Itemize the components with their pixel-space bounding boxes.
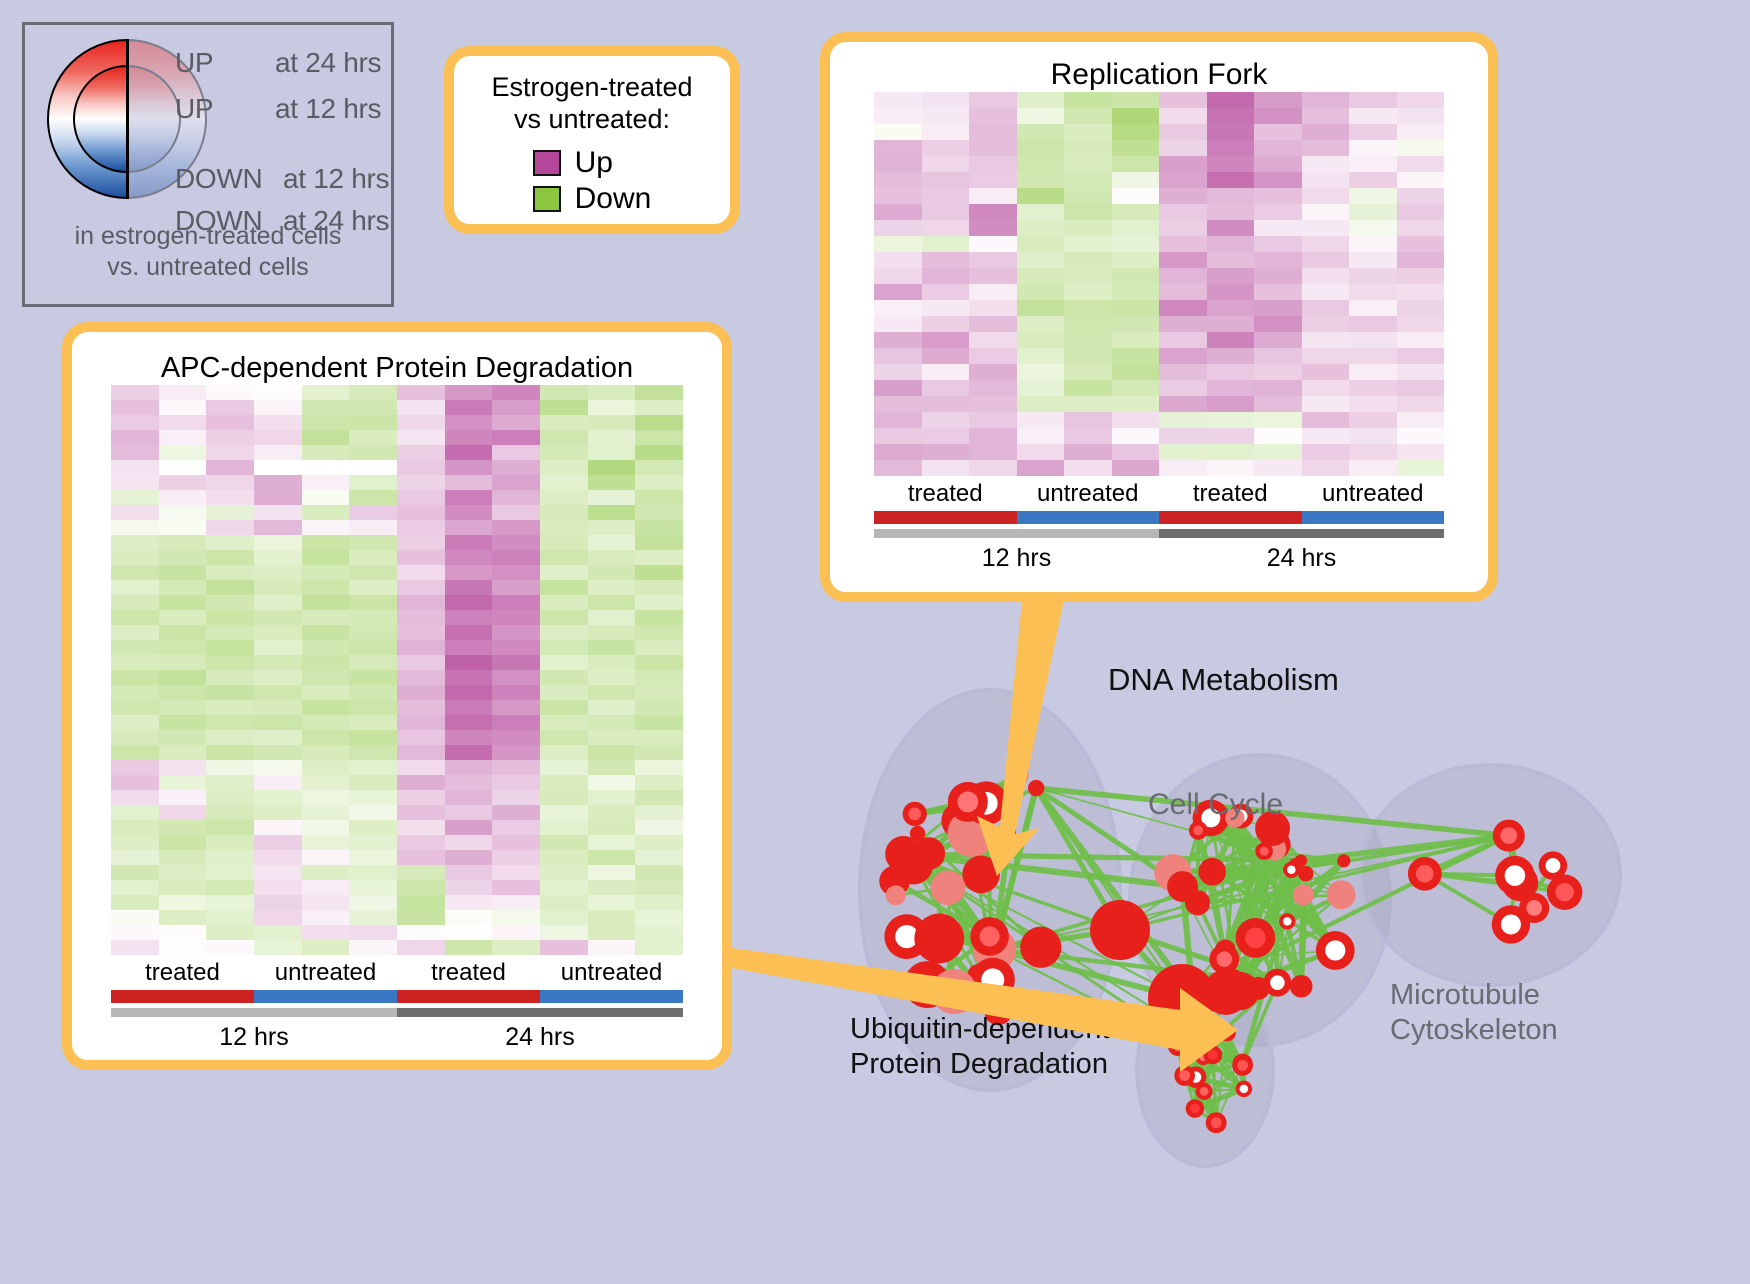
heatmap-cell [254,610,302,625]
heatmap-cell [445,910,493,925]
heatmap-cell [1349,380,1397,396]
heatmap-cell [1397,444,1445,460]
heatmap-cell [445,880,493,895]
heatmap-cell [635,445,683,460]
heatmap-cell [159,595,207,610]
heatmap-cell [969,412,1017,428]
heatmap-cell [1064,236,1112,252]
legend-title-line2: vs untreated: [454,104,730,136]
heatmap-cell [588,895,636,910]
heatmap-cell [254,730,302,745]
heatmap-cell [349,745,397,760]
heatmap-cell [492,595,540,610]
heatmap-cell [1207,92,1255,108]
heatmap-cell [492,385,540,400]
heatmap-cell [492,820,540,835]
heatmap-cell [1207,140,1255,156]
key-time-up-24: at 24 hrs [275,47,381,79]
heatmap-cell [540,895,588,910]
heatmap-cell [1302,444,1350,460]
heatmap-cell [1159,316,1207,332]
heatmap-cell [1017,172,1065,188]
heatmap-cell [445,760,493,775]
heatmap-group-color-bar [874,511,1017,524]
heatmap-cell [540,475,588,490]
heatmap-time-label: 12 hrs [111,1017,397,1052]
heatmap-cell [1207,332,1255,348]
heatmap-cell [159,805,207,820]
heatmap-cell [397,775,445,790]
heatmap-cell [492,925,540,940]
heatmap-cell [159,565,207,580]
heatmap-cell [349,400,397,415]
network-node-core [980,926,1000,946]
heatmap-cell [206,385,254,400]
heatmap-cell [922,444,970,460]
heatmap-cell [397,475,445,490]
heatmap-cell [635,910,683,925]
network-node [1020,927,1061,968]
heatmap-cell [1349,332,1397,348]
heatmap-cell [540,595,588,610]
heatmap-cell [588,640,636,655]
heatmap-cell [1207,268,1255,284]
heatmap-cell [874,284,922,300]
heatmap-cell [302,850,350,865]
heatmap-cell [1112,268,1160,284]
heatmap-cell [969,236,1017,252]
heatmap-cell [1112,188,1160,204]
heatmap-group-label: treated [397,955,540,987]
heatmap-cell [349,715,397,730]
heatmap-cell [1349,252,1397,268]
heatmap-cell [1397,220,1445,236]
heatmap-cell [635,520,683,535]
heatmap-cell [588,475,636,490]
heatmap-cell [922,92,970,108]
heatmap-cell [1064,268,1112,284]
apc-degradation-title: APC-dependent Protein Degradation [72,352,722,385]
heatmap-cell [254,400,302,415]
heatmap-cell [1064,172,1112,188]
heatmap-cell [922,204,970,220]
heatmap-cell [1349,236,1397,252]
heatmap-cell [397,550,445,565]
heatmap-cell [1207,316,1255,332]
heatmap-cell [349,700,397,715]
replication-fork-heatmap [874,92,1444,476]
legend-title-line1: Estrogen-treated [454,72,730,104]
heatmap-cell [540,460,588,475]
heatmap-cell [302,700,350,715]
heatmap-cell [397,715,445,730]
heatmap-cell [588,790,636,805]
heatmap-cell [302,880,350,895]
heatmap-cell [397,700,445,715]
heatmap-cell [397,880,445,895]
network-node-core [1208,1050,1218,1060]
heatmap-cell [540,640,588,655]
heatmap-cell [206,490,254,505]
heatmap-cell [254,805,302,820]
heatmap-cell [540,400,588,415]
heatmap-cell [111,535,159,550]
heatmap-cell [635,415,683,430]
heatmap-cell [492,445,540,460]
heatmap-cell [1397,268,1445,284]
heatmap-cell [1302,268,1350,284]
heatmap-cell [254,895,302,910]
heatmap-cell [111,550,159,565]
heatmap-cell [1349,124,1397,140]
heatmap-cell [635,865,683,880]
heatmap-cell [540,910,588,925]
heatmap-cell [1254,332,1302,348]
heatmap-cell [969,220,1017,236]
heatmap-cell [540,565,588,580]
heatmap-cell [492,700,540,715]
heatmap-cell [254,490,302,505]
network-node-core [1237,1060,1248,1071]
heatmap-cell [1207,396,1255,412]
heatmap-cell [397,520,445,535]
heatmap-cell [1207,412,1255,428]
heatmap-cell [1159,252,1207,268]
heatmap-cell [111,595,159,610]
heatmap-cell [1017,332,1065,348]
heatmap-cell [874,108,922,124]
heatmap-cell [302,910,350,925]
heatmap-cell [588,595,636,610]
heatmap-cell [445,595,493,610]
heatmap-cell [635,430,683,445]
heatmap-cell [1159,172,1207,188]
heatmap-cell [540,820,588,835]
heatmap-cell [1349,268,1397,284]
heatmap-cell [540,775,588,790]
heatmap-cell [1112,396,1160,412]
heatmap-cell [540,940,588,955]
heatmap-cell [254,415,302,430]
heatmap-cell [635,730,683,745]
heatmap-cell [1112,364,1160,380]
heatmap-cell [588,655,636,670]
heatmap-cell [302,415,350,430]
heatmap-cell [445,685,493,700]
network-node-core [1223,1028,1232,1037]
heatmap-cell [1349,220,1397,236]
heatmap-cell [1207,428,1255,444]
heatmap-cell [635,775,683,790]
heatmap-cell [397,415,445,430]
heatmap-cell [159,610,207,625]
heatmap-cell [1349,108,1397,124]
heatmap-cell [1159,380,1207,396]
heatmap-cell [445,865,493,880]
heatmap-cell [302,940,350,955]
heatmap-cell [159,535,207,550]
heatmap-cell [1349,188,1397,204]
heatmap-cell [1064,252,1112,268]
heatmap-cell [1112,284,1160,300]
heatmap-cell [159,655,207,670]
heatmap-cell [397,790,445,805]
heatmap-cell [1112,444,1160,460]
heatmap-cell [397,640,445,655]
heatmap-cell [1207,108,1255,124]
heatmap-cell [254,625,302,640]
heatmap-cell [445,400,493,415]
network-node-core [1173,1041,1183,1051]
network-node [930,870,965,905]
network-node-core [981,968,1004,991]
heatmap-cell [1302,204,1350,220]
heatmap-cell [1159,204,1207,220]
heatmap-group-label: treated [111,955,254,987]
heatmap-cell [922,380,970,396]
heatmap-cell [588,715,636,730]
heatmap-cell [540,745,588,760]
heatmap-cell [206,595,254,610]
heatmap-cell [1207,364,1255,380]
network-node-core [1546,858,1561,873]
network-node-core [1500,827,1517,844]
heatmap-cell [540,490,588,505]
heatmap-cell [206,415,254,430]
heatmap-cell [254,820,302,835]
heatmap-cell [349,835,397,850]
heatmap-cell [206,610,254,625]
heatmap-cell [349,775,397,790]
heatmap-cell [1254,188,1302,204]
heatmap-cell [969,444,1017,460]
heatmap-cell [492,835,540,850]
network-node [1185,890,1210,915]
heatmap-cell [159,895,207,910]
heatmap-cell [397,610,445,625]
heatmap-cell [111,910,159,925]
heatmap-cell [1254,124,1302,140]
heatmap-cell [922,412,970,428]
heatmap-cell [1207,124,1255,140]
heatmap-cell [540,790,588,805]
heatmap-cell [1064,444,1112,460]
heatmap-cell [254,850,302,865]
heatmap-cell [492,850,540,865]
heatmap-cell [588,700,636,715]
heatmap-cell [1254,92,1302,108]
network-node-core [1190,1104,1200,1114]
heatmap-group-label: untreated [540,955,683,987]
heatmap-cell [969,204,1017,220]
network-node [1148,964,1216,1032]
heatmap-cell [111,610,159,625]
heatmap-cell [159,400,207,415]
heatmap-cell [445,445,493,460]
heatmap-cell [1349,300,1397,316]
heatmap-cell [588,610,636,625]
network-node [1198,858,1226,886]
heatmap-cell [1302,364,1350,380]
heatmap-cell [159,760,207,775]
heatmap-time-color-bar [1159,529,1444,538]
heatmap-cell [254,475,302,490]
heatmap-cell [1397,460,1445,476]
heatmap-cell [540,760,588,775]
ub-line1: Ubiquitin-dependent [850,1012,1110,1047]
heatmap-cell [635,505,683,520]
heatmap-cell [635,925,683,940]
heatmap-cell [540,505,588,520]
network-node [1293,884,1314,905]
heatmap-cell [206,805,254,820]
heatmap-cell [349,610,397,625]
heatmap-cell [922,332,970,348]
heatmap-cell [111,925,159,940]
heatmap-cell [1159,124,1207,140]
apc-group-labels: treateduntreatedtreateduntreated [111,955,683,987]
heatmap-cell [1302,124,1350,140]
key-term-up-12: UP [175,93,213,125]
heatmap-cell [254,865,302,880]
heatmap-cell [254,430,302,445]
heatmap-cell [302,550,350,565]
heatmap-cell [302,655,350,670]
heatmap-group-color-bar [254,990,397,1003]
heatmap-cell [588,460,636,475]
heatmap-cell [111,490,159,505]
heatmap-cell [1017,252,1065,268]
heatmap-cell [206,655,254,670]
color-key-footer: in estrogen-treated cells vs. untreated … [25,221,391,282]
heatmap-cell [1302,220,1350,236]
heatmap-cell [540,550,588,565]
heatmap-cell [1017,444,1065,460]
heatmap-cell [969,188,1017,204]
replication-fork-time-labels: 12 hrs24 hrs [874,538,1444,573]
heatmap-cell [445,925,493,940]
heatmap-cell [302,805,350,820]
heatmap-cell [1159,220,1207,236]
heatmap-cell [111,625,159,640]
heatmap-cell [874,236,922,252]
heatmap-cell [1397,92,1445,108]
heatmap-cell [445,940,493,955]
heatmap-group-color-bar [540,990,683,1003]
network-node [1290,975,1313,998]
heatmap-cell [1397,300,1445,316]
heatmap-cell [159,820,207,835]
network-node [1090,900,1150,960]
heatmap-cell [1397,140,1445,156]
heatmap-cell [349,640,397,655]
heatmap-cell [445,550,493,565]
heatmap-cell [635,385,683,400]
heatmap-cell [922,428,970,444]
heatmap-cell [588,685,636,700]
heatmap-cell [1159,140,1207,156]
heatmap-cell [1254,300,1302,316]
heatmap-group-color-bar [1159,511,1302,524]
heatmap-cell [1017,236,1065,252]
network-node-core [1287,866,1296,875]
heatmap-cell [588,730,636,745]
heatmap-cell [874,332,922,348]
heatmap-cell [492,640,540,655]
heatmap-cell [159,880,207,895]
heatmap-cell [349,940,397,955]
heatmap-cell [159,790,207,805]
heatmap-cell [397,385,445,400]
heatmap-cell [349,520,397,535]
heatmap-cell [1112,140,1160,156]
heatmap-cell [635,655,683,670]
heatmap-cell [445,460,493,475]
heatmap-cell [540,805,588,820]
heatmap-cell [1397,252,1445,268]
heatmap-cell [1254,364,1302,380]
heatmap-cell [445,430,493,445]
heatmap-cell [1159,444,1207,460]
heatmap-cell [635,715,683,730]
heatmap-cell [635,850,683,865]
heatmap-cell [1112,124,1160,140]
heatmap-cell [1254,460,1302,476]
heatmap-cell [1017,348,1065,364]
heatmap-group-label: treated [1159,476,1302,508]
heatmap-cell [206,835,254,850]
heatmap-cell [969,332,1017,348]
heatmap-cell [1302,92,1350,108]
heatmap-cell [1112,92,1160,108]
heatmap-cell [635,760,683,775]
heatmap-cell [159,625,207,640]
heatmap-cell [922,252,970,268]
heatmap-cell [588,670,636,685]
heatmap-cell [254,790,302,805]
heatmap-cell [111,745,159,760]
heatmap-cell [1302,108,1350,124]
heatmap-cell [922,124,970,140]
heatmap-cell [397,670,445,685]
heatmap-cell [397,565,445,580]
heatmap-cell [397,685,445,700]
heatmap-cell [111,685,159,700]
heatmap-cell [1017,220,1065,236]
heatmap-cell [397,835,445,850]
heatmap-cell [492,535,540,550]
heatmap-cell [588,925,636,940]
heatmap-cell [492,505,540,520]
heatmap-cell [254,910,302,925]
heatmap-cell [349,625,397,640]
network-node [1327,880,1356,909]
heatmap-cell [397,445,445,460]
heatmap-cell [969,172,1017,188]
heatmap-cell [492,880,540,895]
heatmap-cell [540,865,588,880]
heatmap-cell [445,415,493,430]
heatmap-cell [302,715,350,730]
heatmap-cell [874,204,922,220]
heatmap-cell [1397,316,1445,332]
heatmap-cell [1159,284,1207,300]
network-node-core [957,792,978,813]
heatmap-cell [397,580,445,595]
network-node [962,856,1000,894]
heatmap-cell [1159,348,1207,364]
heatmap-cell [1159,92,1207,108]
